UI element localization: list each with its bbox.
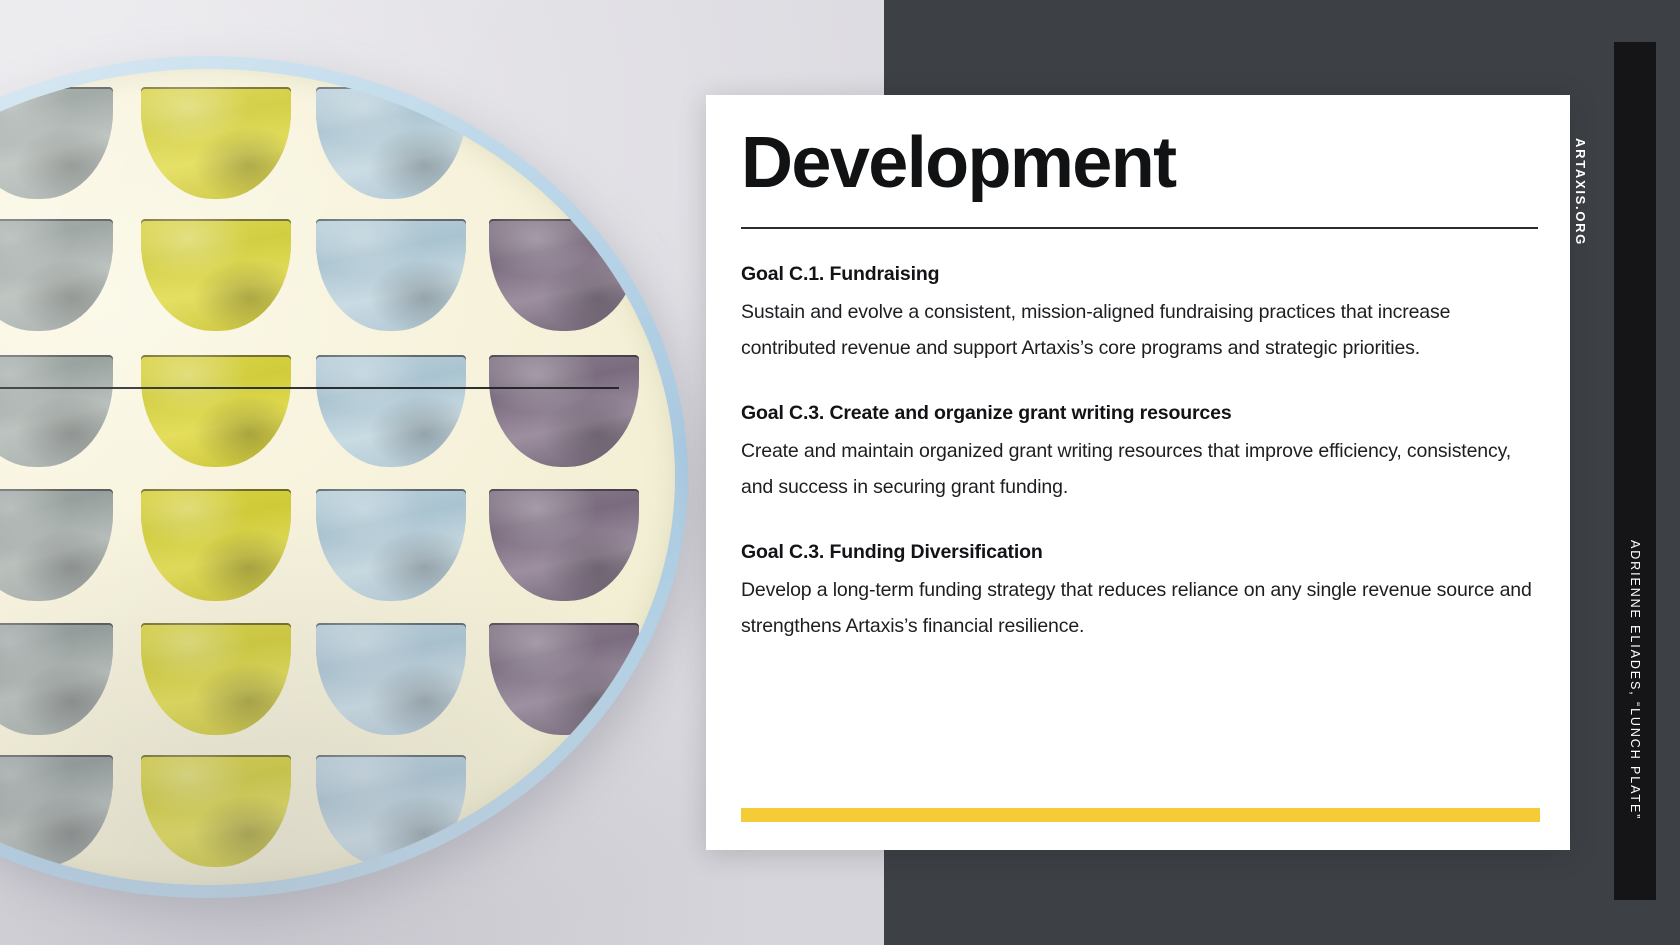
plate-bowl-shape [316,87,466,199]
title-divider [741,227,1538,229]
plate-bowl-shape [0,755,113,867]
page-title: Development [741,125,1538,201]
plate-bowl-shape [316,623,466,735]
plate-bowl-shape [141,755,291,867]
slide-canvas: Development Goal C.1. Fundraising Sustai… [0,0,1680,945]
plate-bowl-shape [489,219,639,331]
plate-bowl-shape [316,755,466,867]
goal-block: Goal C.1. Fundraising Sustain and evolve… [741,263,1538,366]
goal-block: Goal C.3. Funding Diversification Develo… [741,541,1538,644]
plate-bowl-shape [0,87,113,199]
goal-block: Goal C.3. Create and organize grant writ… [741,402,1538,505]
plate-bowl-shape [316,489,466,601]
accent-bar [741,808,1540,822]
plate-bowl-shape [0,623,113,735]
plate-bowl-shape [141,355,291,467]
plate-bowl-shape [0,219,113,331]
site-url-label: ARTAXIS.ORG [1573,138,1588,246]
plate-bowl-shape [489,355,639,467]
plate-bowl-shape [489,623,639,735]
goal-heading: Goal C.3. Create and organize grant writ… [741,402,1538,425]
plate-seam-line [0,387,619,389]
plate-bowl-shape [316,355,466,467]
plate-body [0,69,675,885]
plate-bowl-shape [489,489,639,601]
goal-body: Develop a long-term funding strategy tha… [741,572,1538,644]
goal-body: Sustain and evolve a consistent, mission… [741,294,1538,366]
plate-bowl-shape [141,623,291,735]
goal-heading: Goal C.3. Funding Diversification [741,541,1538,564]
content-card: Development Goal C.1. Fundraising Sustai… [706,95,1570,850]
ceramic-plate-image [0,56,688,898]
artwork-credit-label: ADRIENNE ELIADES, “LUNCH PLATE” [1628,540,1642,820]
goal-heading: Goal C.1. Fundraising [741,263,1538,286]
vertical-credit-strip: ARTAXIS.ORG ADRIENNE ELIADES, “LUNCH PLA… [1614,42,1656,900]
plate-bowl-shape [141,489,291,601]
goal-body: Create and maintain organized grant writ… [741,433,1538,505]
plate-bowl-shape [141,219,291,331]
plate-bowl-shape [316,219,466,331]
card-content: Development Goal C.1. Fundraising Sustai… [741,125,1538,644]
plate-bowl-shape [141,87,291,199]
plate-bowl-shape [0,355,113,467]
plate-bowl-shape [0,489,113,601]
plate-pattern [0,69,675,885]
